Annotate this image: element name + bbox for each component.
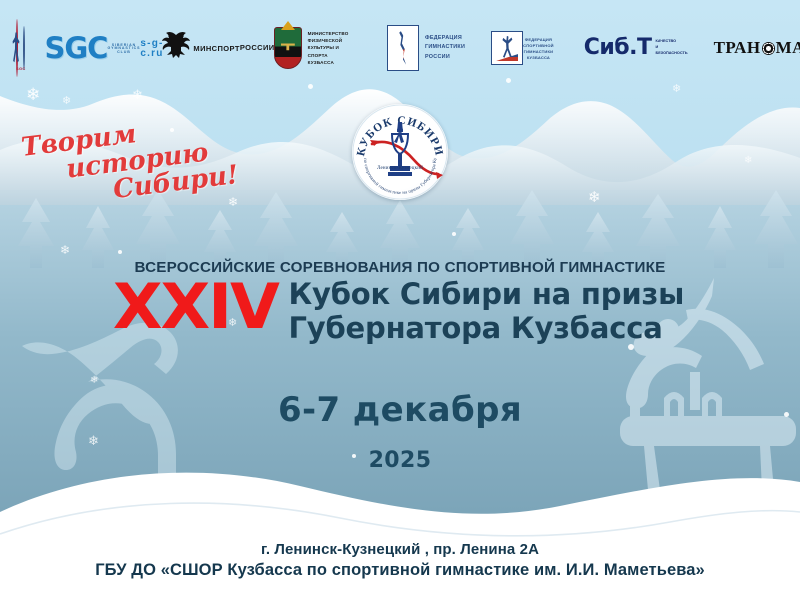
event-poster: ❄ ❄ ❄ ❄ ❄ ❄ ❄ ❄ ❄ ❄ ❄ SGC SGC SIBERIAN G…	[0, 0, 800, 590]
sibt-wordmark: Сиб.Т	[584, 37, 652, 59]
event-date: 6-7 декабря	[0, 390, 800, 430]
snowflake-icon: ❄	[62, 96, 71, 107]
fsgk-text: ФЕДЕРАЦИЯ СПОРТИВНОЙ ГИМНАСТИКИ КУЗБАССА	[523, 37, 554, 61]
logo-sibt: Сиб.Т КАЧЕСТВО И БЕЗОПАСНОСТЬ	[584, 37, 688, 59]
kuzbass-line3: КУЛЬТУРЫ И СПОРТА	[308, 44, 353, 58]
venue-address-line1: г. Ленинск-Кузнецкий , пр. Ленина 2А	[0, 541, 800, 558]
cup-of-siberia-medallion: КУБОК СИБИРИ Кубок по спортивной гимнаст…	[352, 104, 448, 200]
transmash-part2: МАШ	[776, 38, 800, 58]
sgc-subtitle: SIBERIAN GYMNASTICS CLUB	[107, 44, 140, 55]
fgr-text: ФЕДЕРАЦИЯ ГИМНАСТИКИ РОССИИ	[425, 34, 465, 62]
snowflake-icon: ❄	[88, 434, 99, 447]
slogan: Творим историю Сибири!	[20, 109, 240, 214]
logo-minsport-russia: МИНСПОРТ РОССИИ	[182, 31, 252, 65]
event-title-line1: Кубок Сибири на призы	[289, 278, 685, 312]
sibt-mark-right: иб.Т	[599, 35, 651, 60]
fgr-line2: ГИМНАСТИКИ	[425, 43, 465, 52]
eagle-svg	[159, 31, 193, 61]
edition-roman-numeral: XXIV	[113, 278, 278, 336]
sgc-wordmark: SGC	[44, 34, 107, 63]
double-headed-eagle-icon	[159, 31, 193, 65]
fsgk-line4: КУЗБАССА	[523, 55, 554, 61]
transmash-part1: ТРАН	[714, 38, 761, 58]
gear-icon	[762, 42, 775, 55]
kuzbass-line2: ФИЗИЧЕСКОЙ	[308, 37, 353, 44]
logo-sgc: SGC SIBERIAN GYMNASTICS CLUB s-g-c.ru	[52, 34, 156, 63]
medallion-svg: КУБОК СИБИРИ Кубок по спортивной гимнаст…	[352, 104, 448, 200]
event-title-row: XXIV Кубок Сибири на призы Губернатора К…	[0, 278, 800, 345]
kuzbass-line1: МИНИСТЕРСТВО	[308, 30, 353, 37]
kuzbass-ministry-text: МИНИСТЕРСТВО ФИЗИЧЕСКОЙ КУЛЬТУРЫ И СПОРТ…	[308, 30, 353, 66]
snowflake-icon: ❄	[60, 244, 70, 256]
sibt-slogan-line2: И БЕЗОПАСНОСТЬ	[656, 45, 688, 56]
sibt-slogan: КАЧЕСТВО И БЕЗОПАСНОСТЬ	[656, 39, 688, 56]
venue-address-line2: ГБУ ДО «СШОР Кузбасса по спортивной гимн…	[0, 561, 800, 580]
snowflake-icon: ❄	[90, 376, 98, 386]
logo-kuzbass-gymnastics-federation: ФЕДЕРАЦИЯ СПОРТИВНОЙ ГИМНАСТИКИ КУЗБАССА	[491, 31, 554, 65]
fsgk-emblem-icon	[491, 31, 523, 65]
logo-transmash: ТРАН МАШ	[714, 38, 800, 58]
medallion-city: Ленинск-Кузнецкий	[352, 166, 448, 171]
event-title: Кубок Сибири на призы Губернатора Кузбас…	[289, 278, 685, 345]
logo-kuzbass-ministry: МИНИСТЕРСТВО ФИЗИЧЕСКОЙ КУЛЬТУРЫ И СПОРТ…	[274, 27, 353, 69]
transmash-wordmark: ТРАН МАШ	[714, 38, 800, 58]
snowflake-icon: ❄	[744, 156, 752, 166]
event-year: 2025	[0, 448, 800, 473]
snowflake-icon: ❄	[588, 190, 601, 205]
snowflake-icon: ❄	[228, 196, 238, 208]
minsport-line2: РОССИИ	[240, 43, 275, 52]
kuzbass-coat-of-arms-icon	[274, 27, 302, 69]
fgr-line3: РОССИИ	[425, 53, 465, 62]
logo-russian-gymnastics-federation: ФЕДЕРАЦИЯ ГИМНАСТИКИ РОССИИ	[387, 25, 465, 71]
fgr-line1: ФЕДЕРАЦИЯ	[425, 34, 465, 43]
sibt-mark-left: С	[584, 35, 600, 60]
kuzbass-line4: КУЗБАССА	[308, 59, 353, 66]
venue-address: г. Ленинск-Кузнецкий , пр. Ленина 2А ГБУ…	[0, 541, 800, 580]
event-title-line2: Губернатора Кузбасса	[289, 312, 685, 346]
logo-bar: SGC SGC SIBERIAN GYMNASTICS CLUB s-g-c.r…	[0, 0, 800, 96]
minsport-line1: МИНСПОРТ	[193, 44, 239, 53]
fgr-emblem-icon	[387, 25, 419, 71]
